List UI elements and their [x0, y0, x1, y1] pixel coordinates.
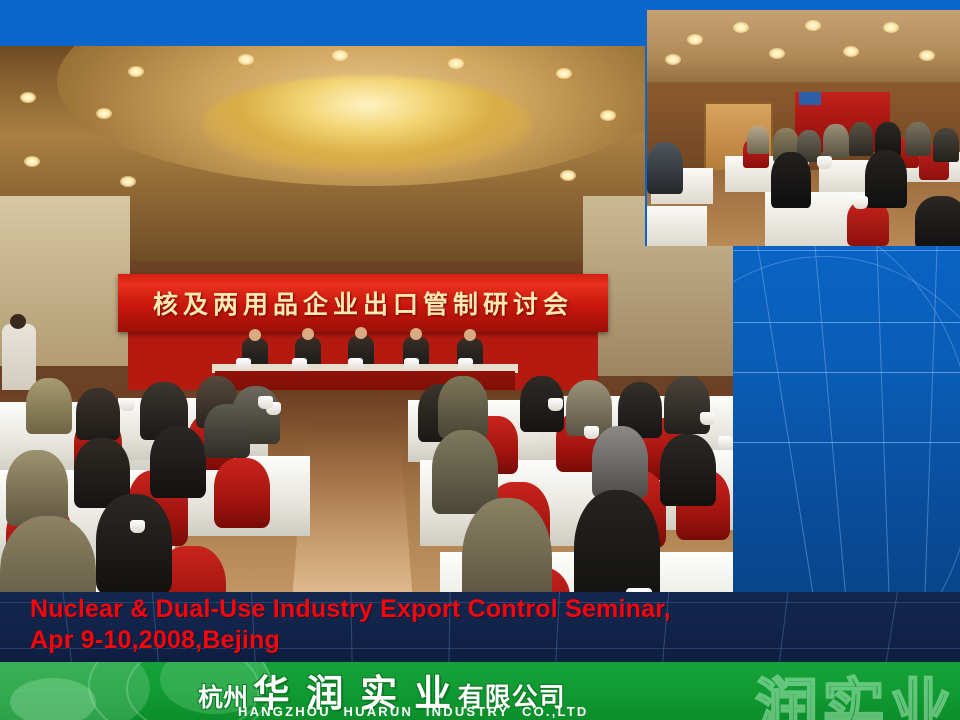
page-title: Nuclear & Dual-Use Industry Export Contr…	[30, 594, 930, 656]
company-watermark: 润实业	[755, 662, 956, 720]
page-title-line2: Apr 9-10,2008,Bejing	[30, 625, 930, 656]
page-title-line1: Nuclear & Dual-Use Industry Export Contr…	[30, 594, 930, 625]
conference-banner-text: 核及两用品企业出口管制研讨会	[153, 285, 573, 321]
slide-title-band: Nuclear & Dual-Use Industry Export Contr…	[0, 592, 960, 662]
seminar-audience-photo	[645, 10, 960, 246]
presentation-slide: 核及两用品企业出口管制研讨会	[0, 0, 960, 720]
conference-hall-photo: 核及两用品企业出口管制研讨会	[0, 46, 733, 592]
company-name-en: HANGZHOU HUARUN INDUSTRY CO.,LTD	[238, 704, 588, 719]
company-logo-footer: 润实业 杭州 华 润 实 业 有限公司 HANGZHOU HUARUN INDU…	[0, 662, 960, 720]
conference-banner: 核及两用品企业出口管制研讨会	[118, 274, 608, 332]
